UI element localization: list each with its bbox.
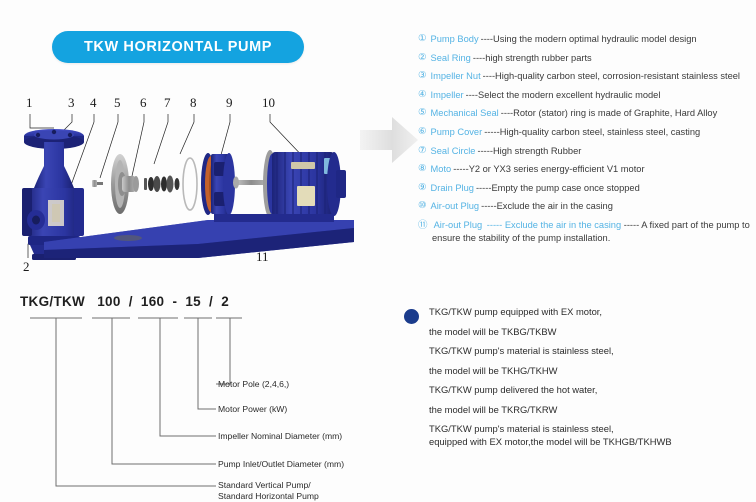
part-description-light: Exclude the air in the casing xyxy=(505,220,621,230)
part-description: High-quality carbon steel, corrosion-res… xyxy=(495,70,740,82)
part-item: ③ Impeller Nut ---- High-quality carbon … xyxy=(418,70,752,82)
title-banner: TKW HORIZONTAL PUMP xyxy=(52,31,304,63)
callout-5: 5 xyxy=(114,96,121,109)
part-separator: ---- xyxy=(481,33,493,45)
part-item: ⑪ Air-out Plug ----- Exclude the air in … xyxy=(418,219,752,244)
model-code-string: TKG/TKW 100 / 160 - 15 / 2 xyxy=(20,294,229,309)
part-description: High strength Rubber xyxy=(493,145,581,157)
part-name: Pump Cover xyxy=(431,126,483,138)
part-number: ⑧ xyxy=(418,163,427,175)
callout-4: 4 xyxy=(90,96,97,109)
part-separator: ---- xyxy=(473,52,485,64)
model-label-motor-power: Motor Power (kW) xyxy=(218,404,287,415)
part-description: Rotor (stator) ring is made of Graphite,… xyxy=(513,107,717,119)
page-title: TKW HORIZONTAL PUMP xyxy=(84,39,272,55)
part-name: Air-out Plug xyxy=(431,200,480,212)
model-label-inlet-diameter: Pump Inlet/Outlet Diameter (mm) xyxy=(218,459,344,470)
part-separator: ---- xyxy=(466,89,478,101)
note-line: TKG/TKW pump's material is stainless ste… xyxy=(429,423,752,435)
part-separator: ----- xyxy=(476,182,491,194)
part-item: ⑤ Mechanical Seal ---- Rotor (stator) ri… xyxy=(418,107,752,119)
note-line: TKG/TKW pump's material is stainless ste… xyxy=(429,345,752,357)
note-line: TKG/TKW pump delivered the hot water, xyxy=(429,384,752,396)
part-item: ④ Impeller ---- Select the modern excell… xyxy=(418,89,752,101)
part-description: Empty the pump case once stopped xyxy=(491,182,639,194)
note-line: the model will be TKHG/TKHW xyxy=(429,365,752,377)
part-number: ⑪ xyxy=(418,220,428,231)
part-item: ② Seal Ring ---- high strength rubber pa… xyxy=(418,52,752,64)
part-number: ⑤ xyxy=(418,107,427,119)
part-item: ⑧ Moto ----- Y2 or YX3 series energy-eff… xyxy=(418,163,752,175)
part-item: ⑥ Pump Cover ----- High-quality carbon s… xyxy=(418,126,752,138)
part-separator: ----- xyxy=(484,126,499,138)
part-number: ⑩ xyxy=(418,200,427,212)
callout-3: 3 xyxy=(68,96,75,109)
part-item: ① Pump Body ---- Using the modern optima… xyxy=(418,33,752,45)
part-separator-2: ----- xyxy=(624,220,639,230)
part-name: Drain Plug xyxy=(431,182,474,194)
part-number: ① xyxy=(418,33,427,45)
part-description: Select the modern excellent hydraulic mo… xyxy=(478,89,660,101)
parts-description-list: ① Pump Body ---- Using the modern optima… xyxy=(418,33,752,251)
part-item: ⑦ Seal Circle ----- High strength Rubber xyxy=(418,145,752,157)
product-spec-sheet: TKW HORIZONTAL PUMP xyxy=(0,0,756,500)
bullet-dot-icon xyxy=(404,309,419,324)
part-description: Y2 or YX3 series energy-efficient V1 mot… xyxy=(469,163,645,175)
part-description: High-quality carbon steel, stainless ste… xyxy=(500,126,701,138)
part-separator: ----- xyxy=(477,145,492,157)
part-name: Seal Ring xyxy=(431,52,471,64)
part-number: ⑥ xyxy=(418,126,427,138)
callout-9: 9 xyxy=(226,96,233,109)
model-code-breakdown-diagram: TKG/TKW 100 / 160 - 15 / 2 xyxy=(20,294,400,494)
part-item: ⑨ Drain Plug ----- Empty the pump case o… xyxy=(418,182,752,194)
part-item: ⑩ Air-out Plug ----- Exclude the air in … xyxy=(418,200,752,212)
part-name: Impeller Nut xyxy=(431,70,481,82)
part-name: Pump Body xyxy=(431,33,479,45)
part-description: Using the modern optimal hydraulic model… xyxy=(493,33,697,45)
callout-2: 2 xyxy=(23,260,30,273)
callout-7: 7 xyxy=(164,96,171,109)
part-separator: ----- xyxy=(453,163,468,175)
note-line: the model will be TKBG/TKBW xyxy=(429,326,752,338)
part-name: Seal Circle xyxy=(431,145,476,157)
callout-1: 1 xyxy=(26,96,33,109)
model-variant-notes: TKG/TKW pump equipped with EX motor, the… xyxy=(404,306,752,456)
note-line: TKG/TKW pump equipped with EX motor, xyxy=(429,306,752,318)
callout-8: 8 xyxy=(190,96,197,109)
part-number: ⑦ xyxy=(418,145,427,157)
part-separator: ----- xyxy=(481,200,496,212)
part-name: Mechanical Seal xyxy=(431,107,499,119)
part-separator: ---- xyxy=(483,70,495,82)
part-number: ⑨ xyxy=(418,182,427,194)
part-separator: ---- xyxy=(501,107,513,119)
part-description: high strength rubber parts xyxy=(485,52,591,64)
part-description: Exclude the air in the casing xyxy=(497,200,613,212)
part-name: Impeller xyxy=(431,89,464,101)
model-label-motor-pole: Motor Pole (2,4,6,) xyxy=(218,379,289,390)
part-number: ③ xyxy=(418,70,427,82)
part-separator: ----- xyxy=(487,220,502,230)
part-number: ④ xyxy=(418,89,427,101)
part-description-dark: A fixed part of the pump to xyxy=(641,220,750,230)
note-line: the model will be TKRG/TKRW xyxy=(429,404,752,416)
part-number: ② xyxy=(418,52,427,64)
part-name: Air-out Plug xyxy=(434,220,483,230)
note-line: equipped with EX motor,the model will be… xyxy=(429,436,752,448)
callout-10: 10 xyxy=(262,96,275,109)
part-description-line2: ensure the stability of the pump install… xyxy=(432,232,752,244)
callout-6: 6 xyxy=(140,96,147,109)
model-label-pump-type: Standard Vertical Pump/ Standard Horizon… xyxy=(218,480,319,502)
right-arrow-icon xyxy=(358,112,420,168)
part-name: Moto xyxy=(431,163,452,175)
model-label-impeller-diameter: Impeller Nominal Diameter (mm) xyxy=(218,431,342,442)
callout-11: 11 xyxy=(256,250,269,263)
exploded-pump-assembly-image: 1 3 4 5 6 7 8 9 10 2 11 xyxy=(8,92,358,282)
